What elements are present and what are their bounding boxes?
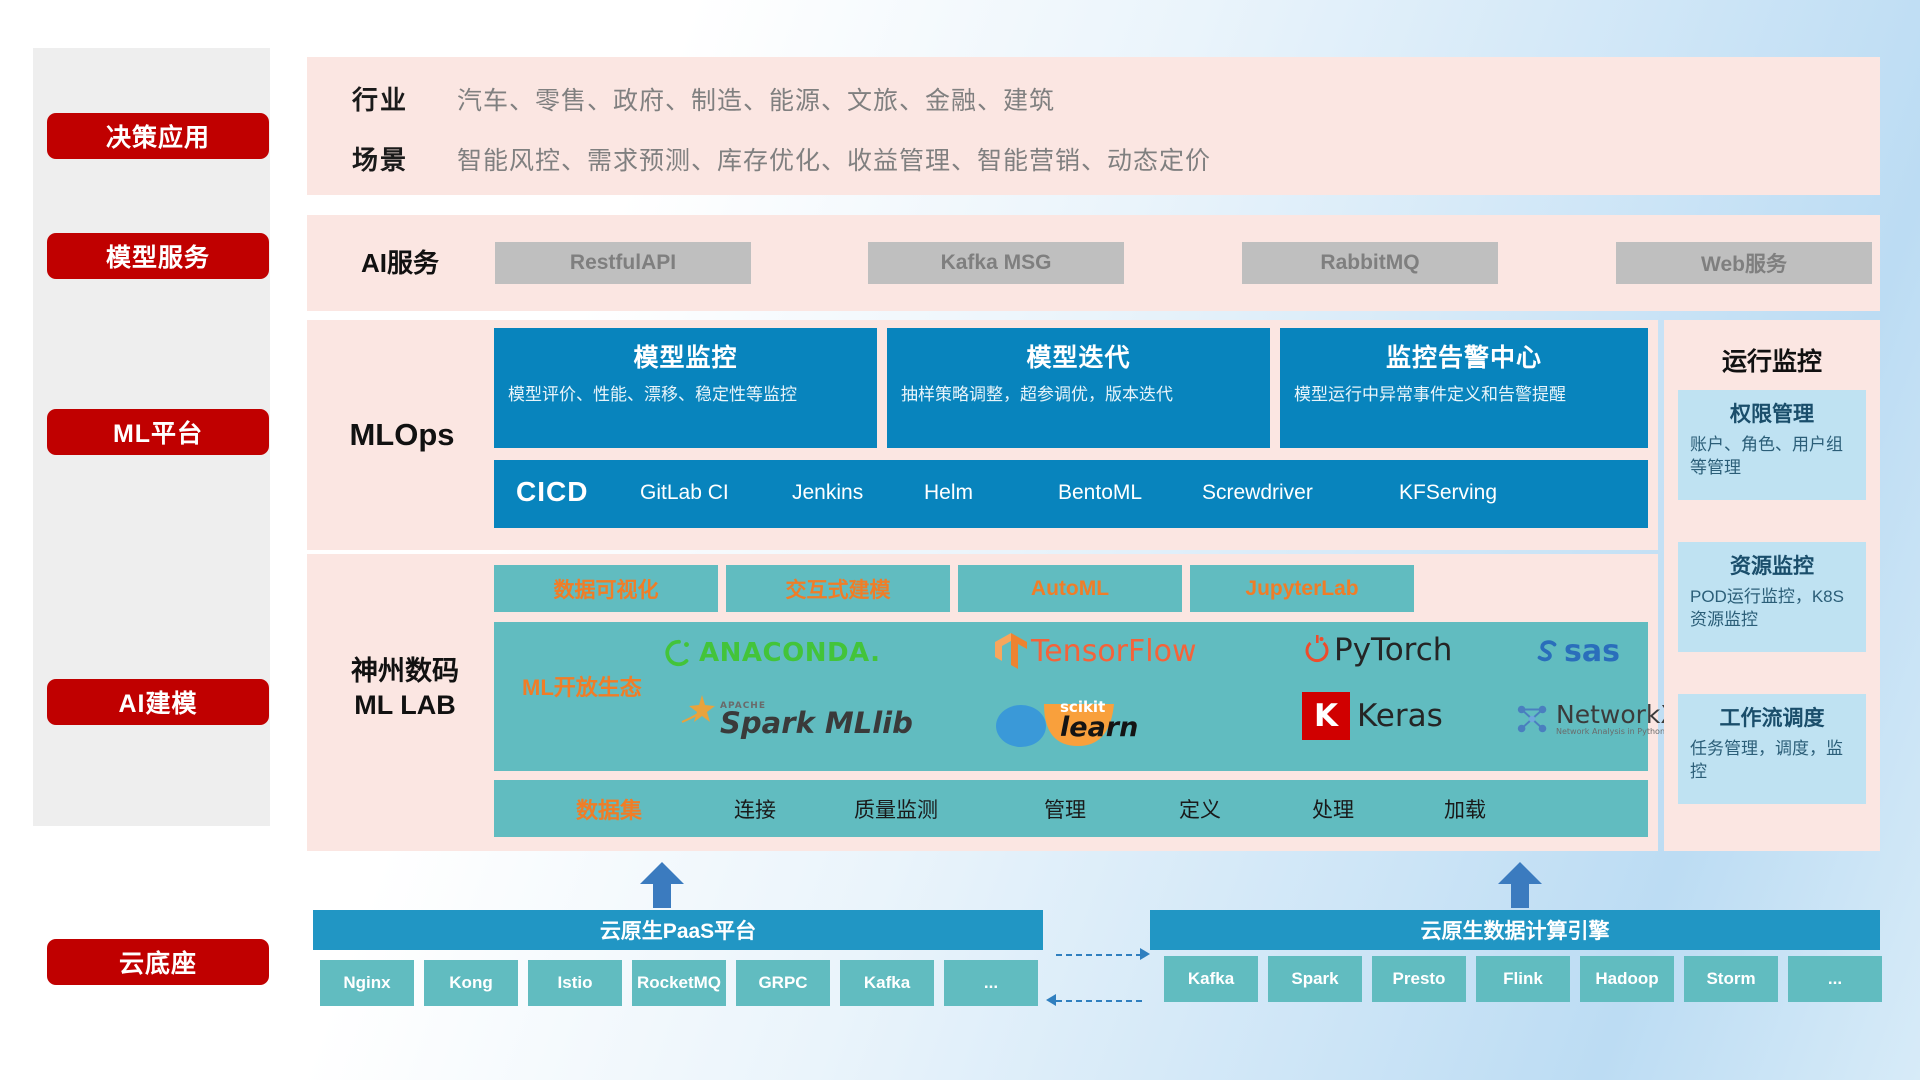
paas-chip-istio[interactable]: Istio <box>528 960 622 1006</box>
dataset-item-manage[interactable]: 管理 <box>1044 794 1086 824</box>
lab-tab-interactive-modeling[interactable]: 交互式建模 <box>726 565 950 612</box>
compute-chip-flink[interactable]: Flink <box>1476 956 1570 1002</box>
card-desc: 账户、角色、用户组等管理 <box>1690 434 1854 480</box>
tensorflow-logo: TensorFlow <box>994 632 1197 670</box>
paas-chip-kafka[interactable]: Kafka <box>840 960 934 1006</box>
mllab-label-line2: ML LAB <box>354 689 456 723</box>
networkx-logo-text: NetworkX <box>1556 702 1678 727</box>
arrow-up-compute-icon <box>1498 862 1542 913</box>
compute-engine-bar: 云原生数据计算引擎 <box>1150 910 1880 950</box>
dataset-item-define[interactable]: 定义 <box>1179 794 1221 824</box>
scenario-key: 场景 <box>352 140 408 177</box>
cicd-title: CICD <box>516 476 588 508</box>
networkx-logo-sub: Network Analysis in Python <box>1556 728 1678 736</box>
compute-chip-presto[interactable]: Presto <box>1372 956 1466 1002</box>
monitoring-card-resource[interactable]: 资源监控 POD运行监控，K8S资源监控 <box>1678 542 1866 652</box>
dashed-arrow-left-head-icon <box>1046 994 1056 1006</box>
keras-logo-mark: K <box>1314 698 1338 734</box>
paas-chip-rocketmq[interactable]: RocketMQ <box>632 960 726 1006</box>
anaconda-logo-text: ANACONDA. <box>699 638 881 668</box>
scikit-learn-logo-text: learn <box>1060 714 1138 741</box>
layer-label-decision-app[interactable]: 决策应用 <box>47 113 269 159</box>
card-desc: 模型运行中异常事件定义和告警提醒 <box>1294 383 1634 406</box>
compute-chip-more[interactable]: ... <box>1788 956 1882 1002</box>
monitoring-card-workflow[interactable]: 工作流调度 任务管理，调度，监控 <box>1678 694 1866 804</box>
layer-label-model-service[interactable]: 模型服务 <box>47 233 269 279</box>
card-desc: 任务管理，调度，监控 <box>1690 738 1854 784</box>
paas-chip-kong[interactable]: Kong <box>424 960 518 1006</box>
lab-tab-data-visualization[interactable]: 数据可视化 <box>494 565 718 612</box>
mlops-card-model-iteration[interactable]: 模型迭代 抽样策略调整，超参调优，版本迭代 <box>887 328 1270 448</box>
keras-logo: K Keras <box>1302 692 1443 740</box>
mlops-card-alert-center[interactable]: 监控告警中心 模型运行中异常事件定义和告警提醒 <box>1280 328 1648 448</box>
paas-chip-nginx[interactable]: Nginx <box>320 960 414 1006</box>
business-panel: 行业 汽车、零售、政府、制造、能源、文旅、金融、建筑 场景 智能风控、需求预测、… <box>307 57 1880 195</box>
networkx-logo: NetworkX Network Analysis in Python <box>1514 700 1678 738</box>
lab-tab-jupyterlab[interactable]: JupyterLab <box>1190 565 1414 612</box>
layer-label-cloud-base[interactable]: 云底座 <box>47 939 269 985</box>
cicd-item-bentoml[interactable]: BentoML <box>1058 480 1170 506</box>
sas-logo: sas <box>1532 634 1620 669</box>
card-title: 权限管理 <box>1690 398 1854 428</box>
keras-logo-text: Keras <box>1357 698 1443 734</box>
ecosystem-strip: ML开放生态 ANACONDA. TensorFlow <box>494 622 1648 771</box>
service-chip-web-service[interactable]: Web服务 <box>1616 242 1872 284</box>
dataset-item-process[interactable]: 处理 <box>1312 794 1354 824</box>
scikit-learn-logo: scikit learn <box>994 694 1142 748</box>
ecosystem-label: ML开放生态 <box>522 670 642 702</box>
mllab-label-line1: 神州数码 <box>351 655 459 689</box>
paas-bar: 云原生PaaS平台 <box>313 910 1043 950</box>
spark-mllib-logo: APACHE Spark MLlib <box>674 694 913 746</box>
layer-label-ai-modeling[interactable]: AI建模 <box>47 679 269 725</box>
monitoring-panel: 运行监控 权限管理 账户、角色、用户组等管理 资源监控 POD运行监控，K8S资… <box>1664 320 1880 851</box>
card-desc: 抽样策略调整，超参调优，版本迭代 <box>901 383 1256 406</box>
mllab-panel: 神州数码 ML LAB 数据可视化 交互式建模 AutoML JupyterLa… <box>307 554 1658 851</box>
paas-chip-grpc[interactable]: GRPC <box>736 960 830 1006</box>
lab-tab-automl[interactable]: AutoML <box>958 565 1182 612</box>
pytorch-logo: PyTorch <box>1304 632 1452 668</box>
industry-value: 汽车、零售、政府、制造、能源、文旅、金融、建筑 <box>457 81 1055 117</box>
card-desc: POD运行监控，K8S资源监控 <box>1690 586 1854 632</box>
paas-chip-more[interactable]: ... <box>944 960 1038 1006</box>
dataset-item-quality[interactable]: 质量监测 <box>854 794 938 824</box>
layer-label-ml-platform[interactable]: ML平台 <box>47 409 269 455</box>
compute-chip-hadoop[interactable]: Hadoop <box>1580 956 1674 1002</box>
compute-chip-kafka[interactable]: Kafka <box>1164 956 1258 1002</box>
cicd-item-gitlab-ci[interactable]: GitLab CI <box>640 480 752 506</box>
spark-mllib-logo-text: Spark MLlib <box>720 709 913 738</box>
card-title: 工作流调度 <box>1690 702 1854 732</box>
cicd-bar: CICD GitLab CI Jenkins Helm BentoML Scre… <box>494 460 1648 528</box>
cicd-item-kfserving[interactable]: KFServing <box>1399 480 1511 506</box>
ai-service-label: AI服务 <box>325 243 475 283</box>
mlops-card-model-monitoring[interactable]: 模型监控 模型评价、性能、漂移、稳定性等监控 <box>494 328 877 448</box>
arrow-up-paas-icon <box>640 862 684 913</box>
cicd-item-jenkins[interactable]: Jenkins <box>792 480 904 506</box>
scenario-value: 智能风控、需求预测、库存优化、收益管理、智能营销、动态定价 <box>457 141 1211 177</box>
dataset-item-load[interactable]: 加载 <box>1444 794 1486 824</box>
card-title: 资源监控 <box>1690 550 1854 580</box>
service-chip-rabbitmq[interactable]: RabbitMQ <box>1242 242 1498 284</box>
industry-key: 行业 <box>352 80 408 117</box>
cicd-item-helm[interactable]: Helm <box>924 480 1036 506</box>
monitoring-title: 运行监控 <box>1664 342 1880 378</box>
pytorch-logo-text: PyTorch <box>1334 632 1452 668</box>
cicd-item-screwdriver[interactable]: Screwdriver <box>1202 480 1314 506</box>
dashed-arrow-right-line <box>1056 954 1142 956</box>
ai-service-panel: AI服务 RestfulAPI Kafka MSG RabbitMQ Web服务 <box>307 215 1880 311</box>
service-chip-restfulapi[interactable]: RestfulAPI <box>495 242 751 284</box>
service-chip-kafka-msg[interactable]: Kafka MSG <box>868 242 1124 284</box>
monitoring-card-permission[interactable]: 权限管理 账户、角色、用户组等管理 <box>1678 390 1866 500</box>
mlops-panel: MLOps 模型监控 模型评价、性能、漂移、稳定性等监控 模型迭代 抽样策略调整… <box>307 320 1658 550</box>
tensorflow-logo-text: TensorFlow <box>1031 634 1197 669</box>
card-title: 模型监控 <box>508 338 863 374</box>
dataset-item-connect[interactable]: 连接 <box>734 794 776 824</box>
dashed-arrow-right-head-icon <box>1140 948 1150 960</box>
mllab-label: 神州数码 ML LAB <box>315 654 495 724</box>
architecture-diagram: 决策应用 模型服务 ML平台 AI建模 云底座 行业 汽车、零售、政府、制造、能… <box>0 0 1920 1080</box>
sas-logo-text: sas <box>1564 634 1620 669</box>
dataset-row: 数据集 连接 质量监测 管理 定义 处理 加载 <box>494 780 1648 837</box>
dataset-label: 数据集 <box>576 793 642 825</box>
card-desc: 模型评价、性能、漂移、稳定性等监控 <box>508 383 863 406</box>
card-title: 监控告警中心 <box>1294 338 1634 374</box>
card-title: 模型迭代 <box>901 338 1256 374</box>
compute-chip-storm[interactable]: Storm <box>1684 956 1778 1002</box>
anaconda-logo: ANACONDA. <box>664 638 881 668</box>
compute-chip-spark[interactable]: Spark <box>1268 956 1362 1002</box>
dashed-arrow-left-line <box>1056 1000 1142 1002</box>
mlops-label: MLOps <box>317 410 487 460</box>
